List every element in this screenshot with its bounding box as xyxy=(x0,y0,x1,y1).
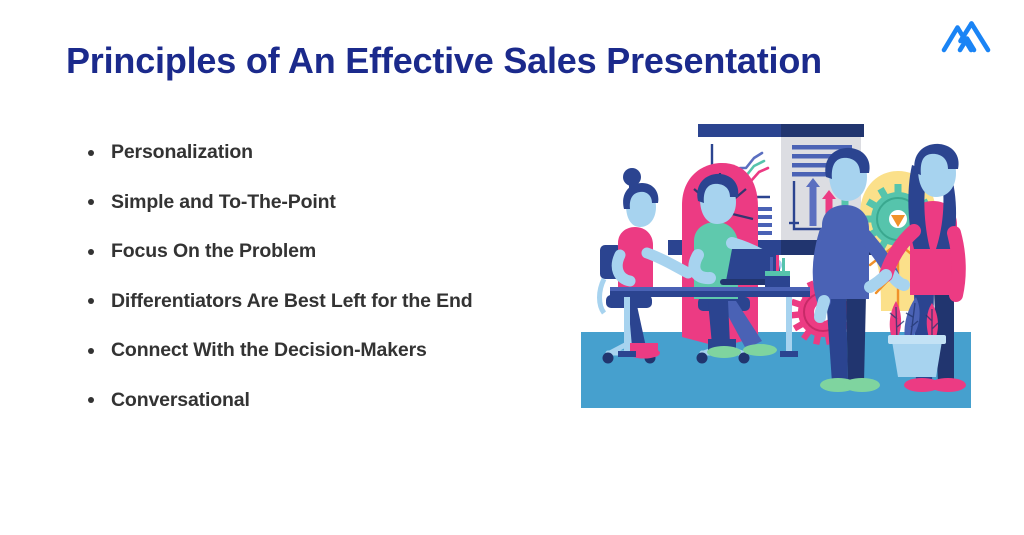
mountain-peaks-logo-icon[interactable] xyxy=(941,17,991,63)
illustration-svg xyxy=(570,115,980,415)
list-item: Focus On the Problem xyxy=(84,227,604,277)
list-item-label: Conversational xyxy=(111,389,250,412)
list-item-label: Connect With the Decision-Makers xyxy=(111,339,427,362)
mountain-peaks-logo-svg xyxy=(941,17,991,63)
list-item: Differentiators Are Best Left for the En… xyxy=(84,277,604,327)
list-item: Conversational xyxy=(84,376,604,426)
slide-canvas: Principles of An Effective Sales Present… xyxy=(0,0,1024,535)
bullet-dot-icon xyxy=(88,397,94,403)
bullet-dot-icon xyxy=(88,298,94,304)
sales-presentation-illustration xyxy=(570,115,980,415)
list-item-label: Differentiators Are Best Left for the En… xyxy=(111,290,473,313)
principles-list: Personalization Simple and To-The-Point … xyxy=(84,128,604,425)
bullet-dot-icon xyxy=(88,249,94,255)
list-item: Connect With the Decision-Makers xyxy=(84,326,604,376)
page-title: Principles of An Effective Sales Present… xyxy=(66,38,946,84)
bullet-dot-icon xyxy=(88,199,94,205)
list-item: Personalization xyxy=(84,128,604,178)
list-item-label: Personalization xyxy=(111,141,253,164)
list-item: Simple and To-The-Point xyxy=(84,178,604,228)
list-item-label: Focus On the Problem xyxy=(111,240,316,263)
list-item-label: Simple and To-The-Point xyxy=(111,191,336,214)
bullet-dot-icon xyxy=(88,150,94,156)
bullet-dot-icon xyxy=(88,348,94,354)
